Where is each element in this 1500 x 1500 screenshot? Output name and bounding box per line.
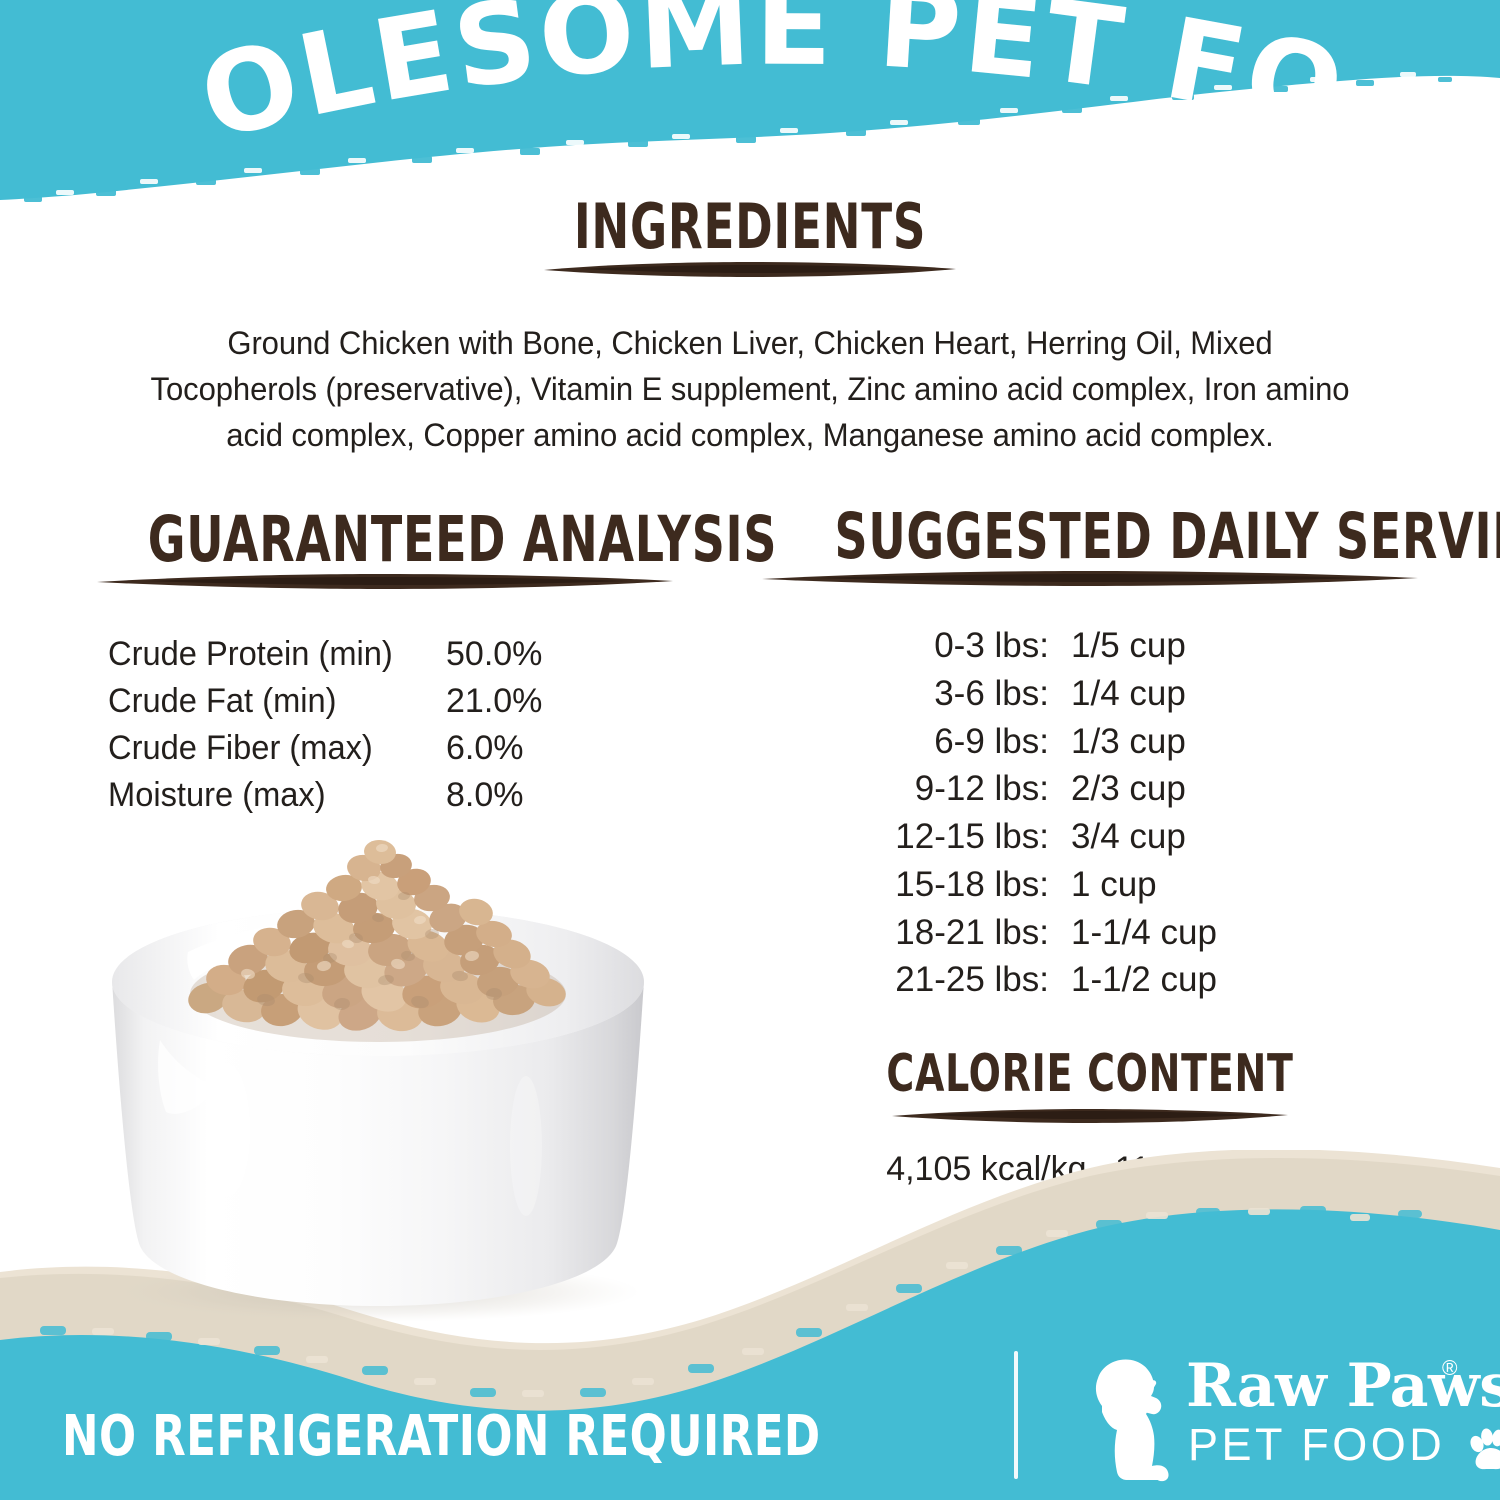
registered-trademark-mark: ® bbox=[1442, 1358, 1457, 1379]
serving-row: 6-9 lbs: 1/3 cup bbox=[740, 718, 1440, 766]
serving-amount: 1-1/2 cup bbox=[1049, 956, 1319, 1004]
analysis-label: Crude Protein (min) bbox=[108, 631, 432, 678]
calorie-heading-group: CALORIE CONTENT bbox=[740, 1048, 1440, 1124]
footer-vertical-divider bbox=[1014, 1351, 1018, 1479]
serving-weight: 3-6 lbs: bbox=[861, 670, 1049, 718]
brand-logo[interactable]: Raw Paws ® PET FOOD bbox=[1074, 1350, 1474, 1490]
analysis-value: 8.0% bbox=[446, 772, 524, 819]
analysis-row: Crude Fiber (max) 6.0% bbox=[108, 725, 710, 772]
serving-rows: 0-3 lbs: 1/5 cup 3-6 lbs: 1/4 cup 6-9 lb… bbox=[740, 622, 1440, 1004]
brand-tagline: PET FOOD bbox=[1188, 1422, 1445, 1467]
suggested-daily-serving-section: SUGGESTED DAILY SERVING 0-3 lbs: 1/5 cup… bbox=[740, 505, 1440, 1004]
serving-amount: 3/4 cup bbox=[1049, 813, 1319, 861]
dog-and-cat-silhouette-icon bbox=[1074, 1354, 1186, 1486]
analysis-value: 21.0% bbox=[446, 678, 542, 725]
analysis-label: Crude Fiber (max) bbox=[108, 725, 432, 772]
product-bowl-image bbox=[48, 830, 748, 1330]
footer-slogan: NO REFRIGERATION REQUIRED bbox=[62, 1404, 821, 1469]
serving-amount: 1/5 cup bbox=[1049, 622, 1319, 670]
serving-weight: 15-18 lbs: bbox=[861, 861, 1049, 909]
serving-row: 3-6 lbs: 1/4 cup bbox=[740, 670, 1440, 718]
serving-row: 18-21 lbs: 1-1/4 cup bbox=[740, 909, 1440, 957]
serving-amount: 1/4 cup bbox=[1049, 670, 1319, 718]
analysis-value: 6.0% bbox=[446, 725, 524, 772]
guaranteed-analysis-section: GUARANTEED ANALYSIS Crude Protein (min) … bbox=[60, 508, 710, 819]
page-title: WHOLESOME PET FOOD bbox=[0, 0, 1357, 165]
serving-row: 21-25 lbs: 1-1/2 cup bbox=[740, 956, 1440, 1004]
serving-amount: 1-1/4 cup bbox=[1049, 909, 1319, 957]
ingredients-heading: INGREDIENTS bbox=[254, 196, 1247, 258]
ingredients-heading-group: INGREDIENTS bbox=[70, 196, 1430, 280]
guaranteed-analysis-heading-group: GUARANTEED ANALYSIS bbox=[60, 508, 710, 591]
serving-row: 0-3 lbs: 1/5 cup bbox=[740, 622, 1440, 670]
serving-row: 12-15 lbs: 3/4 cup bbox=[740, 813, 1440, 861]
serving-heading: SUGGESTED DAILY SERVING bbox=[835, 505, 1346, 568]
pet-food-bowl-icon bbox=[48, 830, 748, 1330]
pet-food-label: WHOLESOME PET FOOD INGREDIENTS Ground Ch… bbox=[0, 0, 1500, 1500]
analysis-label: Crude Fat (min) bbox=[108, 678, 432, 725]
header-title-wrap: WHOLESOME PET FOOD bbox=[0, 0, 1500, 170]
calorie-heading: CALORIE CONTENT bbox=[835, 1048, 1346, 1100]
serving-weight: 12-15 lbs: bbox=[861, 813, 1049, 861]
serving-row: 15-18 lbs: 1 cup bbox=[740, 861, 1440, 909]
ingredients-text: Ground Chicken with Bone, Chicken Liver,… bbox=[101, 320, 1400, 458]
brand-wordmark: Raw Paws ® PET FOOD bbox=[1186, 1356, 1474, 1486]
paw-print-icon bbox=[1468, 1428, 1500, 1472]
ingredients-section: INGREDIENTS Ground Chicken with Bone, Ch… bbox=[70, 196, 1430, 458]
serving-heading-group: SUGGESTED DAILY SERVING bbox=[740, 505, 1440, 588]
serving-weight: 21-25 lbs: bbox=[861, 956, 1049, 1004]
header-band: WHOLESOME PET FOOD bbox=[0, 0, 1500, 210]
serving-amount: 2/3 cup bbox=[1049, 765, 1319, 813]
serving-row: 9-12 lbs: 2/3 cup bbox=[740, 765, 1440, 813]
serving-weight: 9-12 lbs: bbox=[861, 765, 1049, 813]
serving-amount: 1/3 cup bbox=[1049, 718, 1319, 766]
serving-weight: 18-21 lbs: bbox=[861, 909, 1049, 957]
guaranteed-analysis-rows: Crude Protein (min) 50.0% Crude Fat (min… bbox=[60, 631, 710, 819]
serving-amount: 1 cup bbox=[1049, 861, 1319, 909]
analysis-value: 50.0% bbox=[446, 631, 542, 678]
guaranteed-analysis-heading: GUARANTEED ANALYSIS bbox=[148, 508, 623, 571]
serving-weight: 0-3 lbs: bbox=[861, 622, 1049, 670]
analysis-row: Crude Protein (min) 50.0% bbox=[108, 631, 710, 678]
brush-divider bbox=[890, 1106, 1290, 1124]
analysis-label: Moisture (max) bbox=[108, 772, 432, 819]
serving-weight: 6-9 lbs: bbox=[861, 718, 1049, 766]
analysis-row: Moisture (max) 8.0% bbox=[108, 772, 710, 819]
analysis-row: Crude Fat (min) 21.0% bbox=[108, 678, 710, 725]
